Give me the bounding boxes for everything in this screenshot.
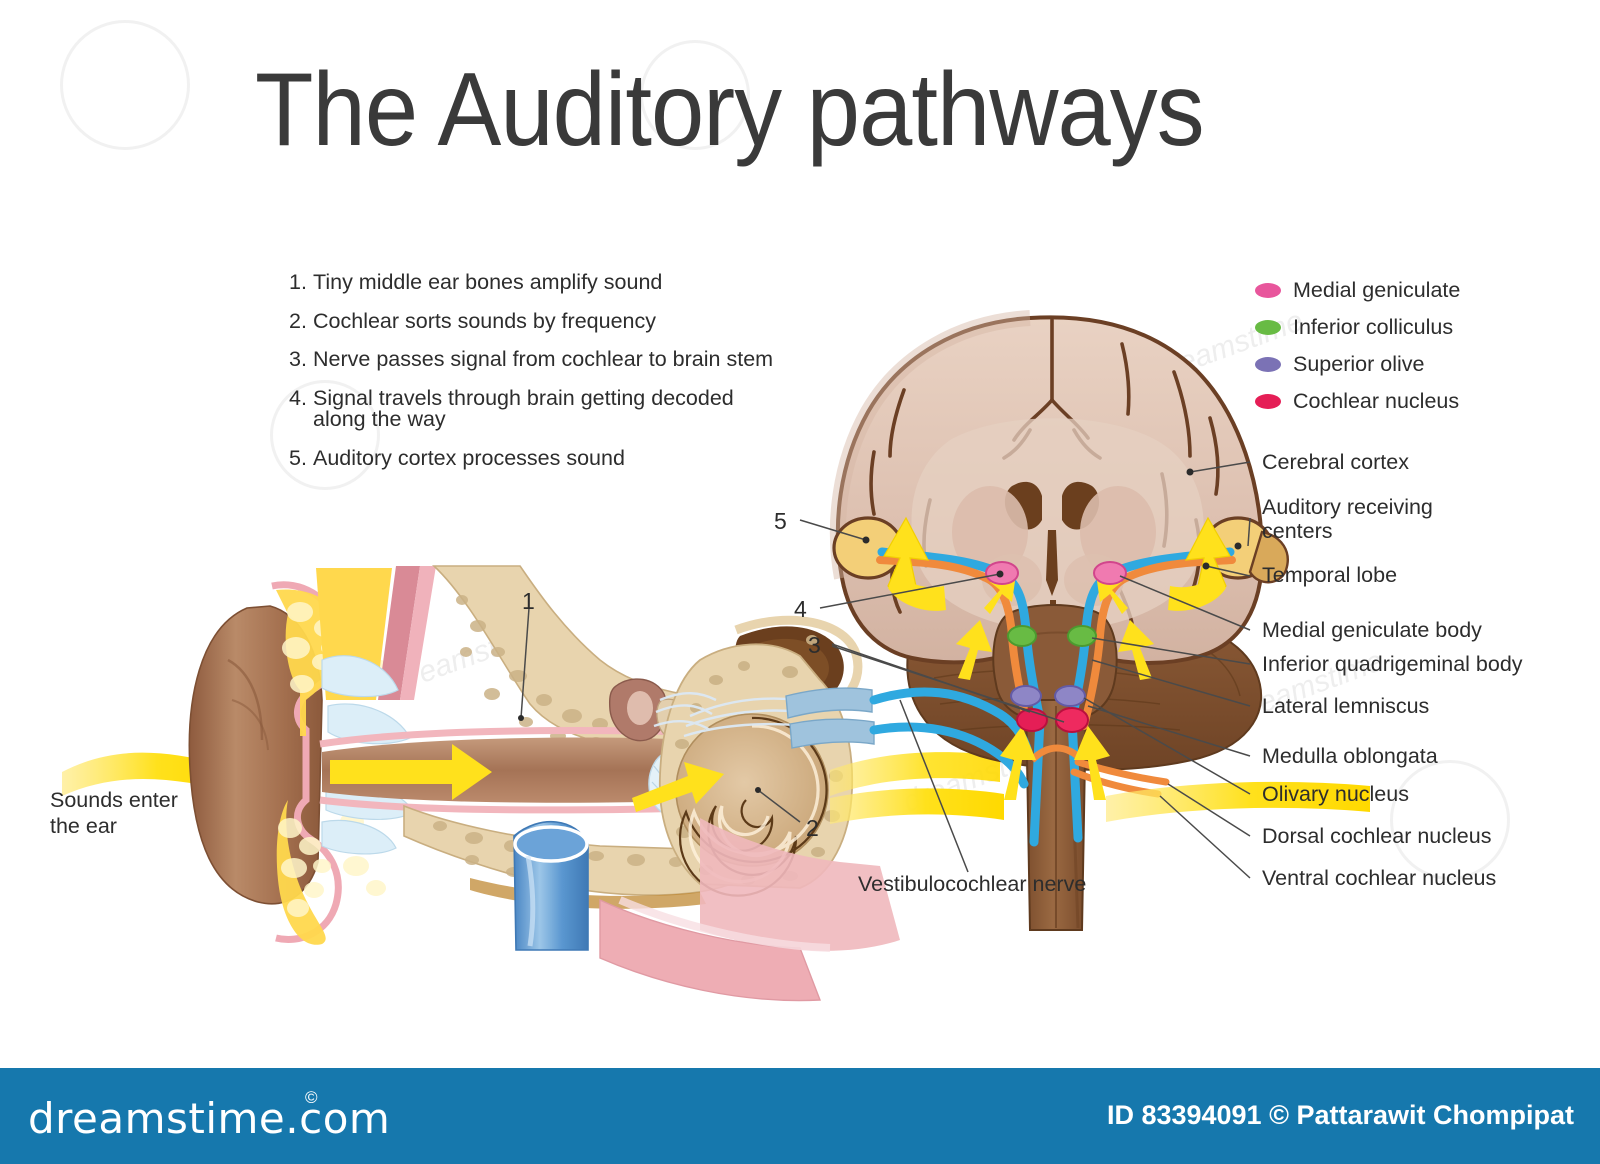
step-number: 3. <box>289 349 313 371</box>
legend-item-medial-geniculate: Medial geniculate <box>1255 272 1460 309</box>
registered-mark-icon: © <box>305 1088 318 1108</box>
cochlear-nucleus-ventral <box>1056 708 1088 732</box>
label-inferior-quadrigeminal-body: Inferior quadrigeminal body <box>1262 652 1523 676</box>
pathway-blue-right-lower <box>1072 720 1078 838</box>
label-medial-geniculate-body: Medial geniculate body <box>1262 618 1482 642</box>
ossicle-highlight <box>627 691 653 725</box>
legend-swatch-icon <box>1255 394 1281 409</box>
illustration-canvas: dreamstime dreamstime dreamstime dreamst… <box>0 0 1600 1060</box>
label-sounds-enter-the-ear: Sounds enter the ear <box>50 788 178 840</box>
legend-item-inferior-colliculus: Inferior colliculus <box>1255 309 1460 346</box>
vessel-lumen <box>515 827 587 861</box>
label-olivary-nucleus: Olivary nucleus <box>1262 782 1409 806</box>
step-number: 2. <box>289 311 313 333</box>
footer-bar: dreamstime.com © ID 83394091 © Pattarawi… <box>0 1068 1600 1164</box>
list-item: 2. Cochlear sorts sounds by frequency <box>289 311 809 333</box>
legend-label: Medial geniculate <box>1293 278 1460 303</box>
inferior-colliculus-right <box>1068 626 1096 646</box>
label-ventral-cochlear-nucleus: Ventral cochlear nucleus <box>1262 866 1496 890</box>
label-medulla-oblongata: Medulla oblongata <box>1262 744 1438 768</box>
legend-swatch-icon <box>1255 320 1281 335</box>
callout-number-3: 3 <box>808 632 821 659</box>
list-item: 5. Auditory cortex processes sound <box>289 448 809 470</box>
dreamstime-logo[interactable]: dreamstime.com <box>28 1094 390 1143</box>
label-vestibulocochlear-nerve: Vestibulocochlear nerve <box>858 872 1086 898</box>
legend-label: Cochlear nucleus <box>1293 389 1459 414</box>
step-number: 4. <box>289 388 313 431</box>
step-text: Auditory cortex processes sound <box>313 448 625 470</box>
ear-anatomy-group <box>62 566 1000 1001</box>
legend-swatch-icon <box>1255 357 1281 372</box>
callout-number-5: 5 <box>774 508 787 535</box>
superior-olive-right <box>1055 686 1085 706</box>
list-item: 1. Tiny middle ear bones amplify sound <box>289 272 809 294</box>
steps-list: 1. Tiny middle ear bones amplify sound 2… <box>289 272 809 486</box>
list-item: 3. Nerve passes signal from cochlear to … <box>289 349 809 371</box>
superior-olive-left <box>1011 686 1041 706</box>
inferior-colliculus-left <box>1008 626 1036 646</box>
callout-number-1: 1 <box>522 588 535 615</box>
list-item: 4. Signal travels through brain getting … <box>289 388 749 431</box>
label-temporal-lobe: Temporal lobe <box>1262 563 1397 587</box>
step-text: Signal travels through brain getting dec… <box>313 388 749 431</box>
label-cerebral-cortex: Cerebral cortex <box>1262 450 1409 474</box>
legend-label: Inferior colliculus <box>1293 315 1453 340</box>
step-text: Tiny middle ear bones amplify sound <box>313 272 662 294</box>
label-auditory-receiving-centers: Auditory receiving centers <box>1262 495 1433 543</box>
label-dorsal-cochlear-nucleus: Dorsal cochlear nucleus <box>1262 824 1491 848</box>
step-text: Nerve passes signal from cochlear to bra… <box>313 349 773 371</box>
callout-number-2: 2 <box>806 815 819 842</box>
page-title: The Auditory pathways <box>255 58 1285 162</box>
callout-number-4: 4 <box>794 596 807 623</box>
legend-swatch-icon <box>1255 283 1281 298</box>
image-credit: ID 83394091 © Pattarawit Chompipat <box>1107 1100 1574 1131</box>
pathway-blue-left-lower <box>1034 720 1040 842</box>
legend: Medial geniculate Inferior colliculus Su… <box>1255 272 1460 420</box>
legend-item-cochlear-nucleus: Cochlear nucleus <box>1255 383 1460 420</box>
cartilage-plate <box>322 820 396 853</box>
legend-item-superior-olive: Superior olive <box>1255 346 1460 383</box>
signal-wave-into-stem-left <box>830 788 1004 824</box>
label-lateral-lemniscus: Lateral lemniscus <box>1262 694 1429 718</box>
step-number: 5. <box>289 448 313 470</box>
step-number: 1. <box>289 272 313 294</box>
medial-geniculate-right <box>1094 562 1126 584</box>
step-text: Cochlear sorts sounds by frequency <box>313 311 656 333</box>
legend-label: Superior olive <box>1293 352 1424 377</box>
